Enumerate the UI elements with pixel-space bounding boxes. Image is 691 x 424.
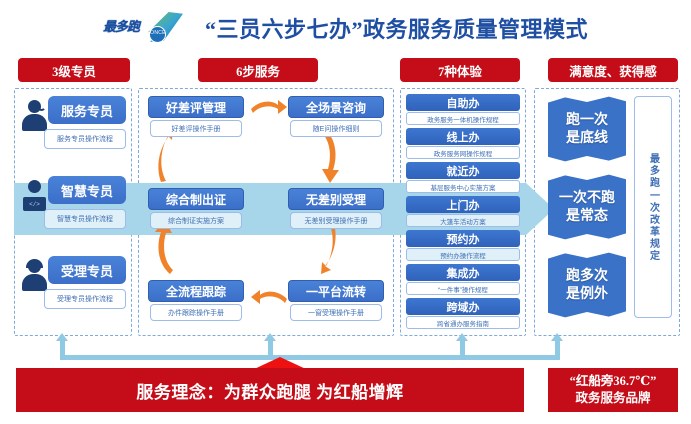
reform-note-col1: 最多跑: [646, 153, 661, 189]
outcome-line1: 一次不跑: [559, 190, 615, 207]
step-card-5[interactable]: 全流程跟踪 办件跟踪操作手册: [148, 280, 244, 321]
experience-title: 线上办: [406, 128, 520, 145]
experience-title: 就近办: [406, 162, 520, 179]
page-title: “三员六步七办”政务服务质量管理模式: [205, 12, 588, 44]
specialist-title: 受理专员: [48, 256, 126, 284]
outcome-line2: 是常态: [566, 208, 608, 225]
step-title: 综合制出证: [148, 188, 244, 210]
step-card-1[interactable]: 好差评管理 好差评操作手册: [148, 96, 244, 137]
step-title: 好差评管理: [148, 96, 244, 118]
feedback-connector-bar: [60, 355, 560, 360]
experience-title: 上门办: [406, 196, 520, 213]
outcome-banner-1: 跑一次 是底线: [548, 96, 626, 162]
step-sub: 一窗受理操作手册: [290, 304, 382, 321]
reform-note-col2: 一次改革规定: [646, 190, 661, 262]
step-sub: 随E问操作细则: [290, 120, 382, 137]
outcome-line2: 是例外: [566, 286, 608, 303]
step-title: 全流程跟踪: [148, 280, 244, 302]
outcome-line2: 是底线: [566, 130, 608, 147]
logo-once-text: ONCE: [150, 30, 166, 36]
reform-regulation-note: 最多跑 一次改革规定: [634, 96, 672, 318]
experience-sub: 政务服务网操作规程: [406, 146, 520, 159]
specialist-card-service[interactable]: 服务专员 服务专员操作流程: [20, 96, 126, 168]
experience-sub: 预约办操作流程: [406, 248, 520, 261]
section-banner-steps: 6步服务: [198, 58, 318, 82]
section-banner-experiences: 7种体验: [400, 58, 520, 82]
experience-sub: 跨省通办服务指南: [406, 316, 520, 329]
step-card-3[interactable]: 无差别受理 无差别受理操作手册: [288, 188, 384, 229]
step-sub: 办件跟踪操作手册: [150, 304, 242, 321]
step-card-6[interactable]: 综合制出证 综合制证实施方案: [148, 188, 244, 229]
step-card-2[interactable]: 全场景咨询 随E问操作细则: [288, 96, 384, 137]
connector-corner: [555, 355, 560, 360]
experience-card-2[interactable]: 线上办 政务服务网操作规程: [406, 128, 520, 159]
step-sub: 无差别受理操作手册: [290, 212, 382, 229]
outcome-banner-3: 跑多次 是例外: [548, 252, 626, 318]
experience-title: 跨域办: [406, 298, 520, 315]
step-card-4[interactable]: 一平台流转 一窗受理操作手册: [288, 280, 384, 321]
experience-title: 自助办: [406, 94, 520, 111]
experience-card-3[interactable]: 就近办 基层服务中心实施方案: [406, 162, 520, 193]
cycle-arrow-bottom-icon: [250, 288, 288, 306]
outcome-banner-2: 一次不跑 是常态: [548, 174, 626, 240]
feedback-arrow-1-icon: [60, 340, 65, 358]
feedback-arrow-3-icon: [460, 340, 465, 358]
step-title: 全场景咨询: [288, 96, 384, 118]
experience-card-1[interactable]: 自助办 政务服务一体机操作规程: [406, 94, 520, 125]
specialist-sub: 受理专员操作流程: [44, 289, 126, 309]
specialist-sub: 服务专员操作流程: [44, 129, 126, 149]
experience-sub: 政务服务一体机操作规程: [406, 112, 520, 125]
experience-title: 集成办: [406, 264, 520, 281]
specialist-title: 服务专员: [48, 96, 126, 124]
experience-sub: “一件事”操作规程: [406, 282, 520, 295]
infographic-root: 最多跑 ONCE “三员六步七办”政务服务质量管理模式 3级专员 6步服务 7种…: [0, 0, 691, 424]
experience-card-6[interactable]: 集成办 “一件事”操作规程: [406, 264, 520, 295]
step-sub: 综合制证实施方案: [150, 212, 242, 229]
outcome-line1: 跑多次: [566, 268, 608, 285]
feedback-arrow-2-icon: [268, 340, 273, 358]
experience-card-4[interactable]: 上门办 大篷车活动方案: [406, 196, 520, 227]
experience-title: 预约办: [406, 230, 520, 247]
specialist-card-smart[interactable]: </> 智慧专员 智慧专员操作流程: [20, 176, 126, 248]
experience-card-5[interactable]: 预约办 预约办操作流程: [406, 230, 520, 261]
zuiduopao-logo: 最多跑 ONCE: [103, 13, 199, 43]
step-sub: 好差评操作手册: [150, 120, 242, 137]
experience-sub: 大篷车活动方案: [406, 214, 520, 227]
specialist-sub: 智慧专员操作流程: [44, 209, 126, 229]
cycle-arrow-top-icon: [250, 98, 288, 116]
specialist-card-intake[interactable]: 受理专员 受理专员操作流程: [20, 256, 126, 328]
outcome-line1: 跑一次: [566, 112, 608, 129]
header: 最多跑 ONCE “三员六步七办”政务服务质量管理模式: [0, 10, 691, 46]
service-concept-bar: 服务理念：为群众跑腿 为红船增辉: [16, 368, 524, 412]
logo-text: 最多跑: [103, 20, 139, 34]
brand-line-2: 政务服务品牌: [575, 390, 650, 407]
experience-sub: 基层服务中心实施方案: [406, 180, 520, 193]
section-banner-specialists: 3级专员: [18, 58, 130, 82]
step-title: 无差别受理: [288, 188, 384, 210]
step-title: 一平台流转: [288, 280, 384, 302]
brand-line-1: “红船旁36.7℃”: [570, 373, 657, 390]
specialist-title: 智慧专员: [48, 176, 126, 204]
section-banner-satisfaction: 满意度、获得感: [548, 58, 678, 82]
service-brand-box: “红船旁36.7℃” 政务服务品牌: [548, 368, 678, 412]
experience-card-7[interactable]: 跨域办 跨省通办服务指南: [406, 298, 520, 329]
